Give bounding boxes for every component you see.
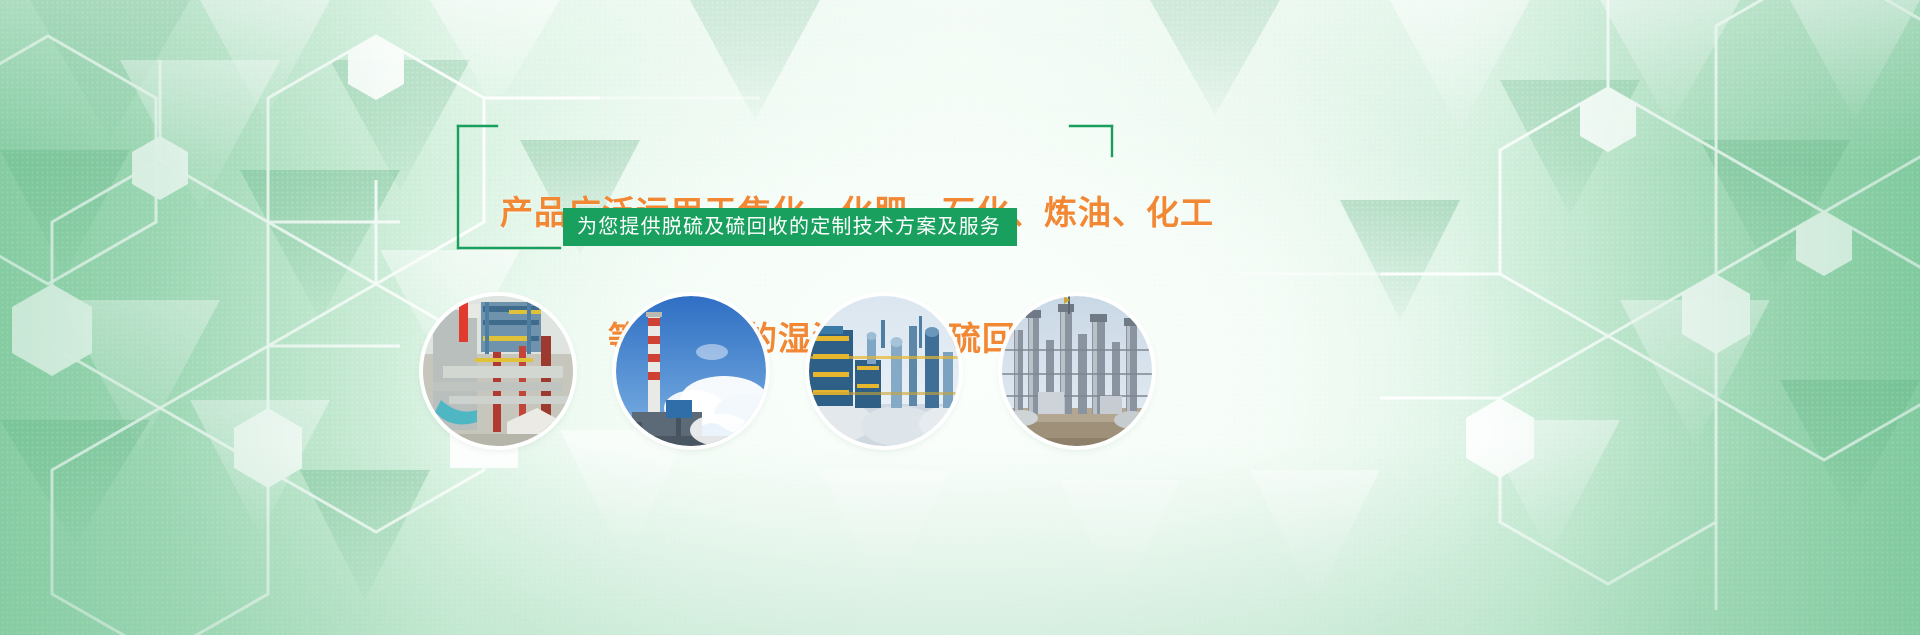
photo-desulfurization-plant-pipes[interactable]	[423, 296, 573, 446]
photo-petrochemical-towers[interactable]	[1002, 296, 1152, 446]
photo-chimney-blue-sky[interactable]	[616, 296, 766, 446]
subtitle-bar: 为您提供脱硫及硫回收的定制技术方案及服务	[563, 208, 1017, 246]
photo-row	[423, 296, 1153, 446]
headline-block: 产品广泛运用于焦化、化肥、石化、炼油、化工 等领域中的湿法脱硫的硫回收工序 为您…	[455, 108, 1115, 268]
promo-banner: 产品广泛运用于焦化、化肥、石化、炼油、化工 等领域中的湿法脱硫的硫回收工序 为您…	[0, 0, 1920, 635]
photo-refinery-tanks[interactable]	[809, 296, 959, 446]
